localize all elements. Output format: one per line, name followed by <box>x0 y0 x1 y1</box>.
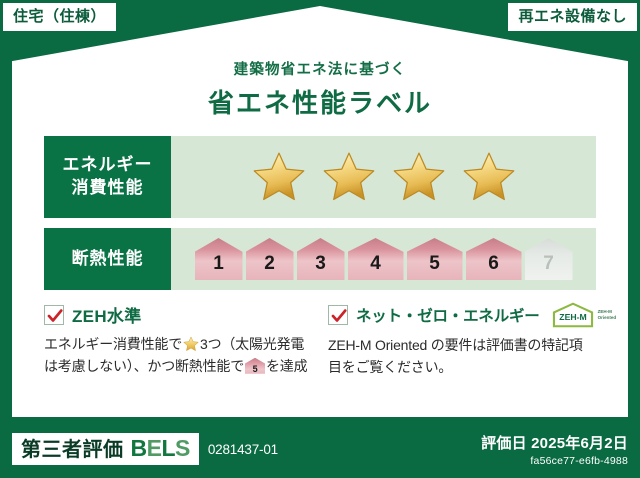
bels-english-text: BELS <box>131 437 190 460</box>
star-icon <box>461 150 517 204</box>
label-title: 省エネ性能ラベル <box>32 83 608 120</box>
energy-label-line1: エネルギー <box>63 154 153 177</box>
zeh-standard-header: ZEH水準 <box>44 302 312 327</box>
energy-performance-value <box>171 136 596 218</box>
insulation-performance-value: 1234567 <box>171 228 596 290</box>
energy-label-line2: 消費性能 <box>72 177 144 200</box>
star-icon <box>391 150 447 204</box>
energy-performance-row: エネルギー 消費性能 <box>44 136 596 218</box>
zeh-m-logo-text: ZEH-M <box>559 312 586 322</box>
badge-number: 3 <box>315 254 326 280</box>
insulation-badge-2: 2 <box>246 238 294 280</box>
zeh-desc-part3: を達成 <box>266 358 307 374</box>
badge-number: 1 <box>213 254 224 280</box>
zeh-checkbox[interactable] <box>44 305 64 325</box>
insulation-badge-1: 1 <box>195 238 243 280</box>
insulation-performance-row: 断熱性能 1234567 <box>44 228 596 290</box>
evaluation-date: 評価日 2025年6月2日 <box>481 432 628 453</box>
bels-logo: 第三者評価 BELS <box>12 433 199 465</box>
badge-number: 6 <box>488 254 499 280</box>
check-icon <box>331 308 347 324</box>
zeh-standard-column: ZEH水準 エネルギー消費性能で 3つ（太陽光発電は考慮しない）、かつ断熱性能で… <box>44 302 312 378</box>
energy-performance-label: エネルギー 消費性能 <box>44 136 171 218</box>
evaluation-hash: fa56ce77-e6fb-4988 <box>481 455 628 467</box>
badge-number: 5 <box>429 254 440 280</box>
nze-checkbox[interactable] <box>328 305 348 325</box>
bels-japanese-text: 第三者評価 <box>21 440 124 460</box>
inline-badge-number: 5 <box>245 365 265 374</box>
badge-number: 2 <box>264 254 275 280</box>
label-card-content: 建築物省エネ法に基づく 省エネ性能ラベル エネルギー 消費性能 断熱性能 123… <box>12 6 628 417</box>
insulation-performance-label: 断熱性能 <box>44 228 171 290</box>
bels-letter-s: S <box>175 435 190 461</box>
zeh-standard-title: ZEH水準 <box>72 302 142 327</box>
bels-letter-b: B <box>131 435 147 461</box>
insulation-label-text: 断熱性能 <box>72 248 144 271</box>
insulation-badge-7: 7 <box>525 238 573 280</box>
net-zero-energy-header: ネット・ゼロ・エネルギー ZEH-M ZEH-M Oriented <box>328 302 596 328</box>
insulation-badge-6: 6 <box>466 238 522 280</box>
zeh-m-house-icon: ZEH-M <box>550 302 596 328</box>
star-icon <box>251 150 307 204</box>
certification-columns: ZEH水準 エネルギー消費性能で 3つ（太陽光発電は考慮しない）、かつ断熱性能で… <box>44 302 596 378</box>
star-rating <box>251 150 517 204</box>
inline-star-icon <box>183 336 199 352</box>
net-zero-energy-title: ネット・ゼロ・エネルギー <box>356 304 540 326</box>
label-subtitle: 建築物省エネ法に基づく <box>32 58 608 79</box>
insulation-level-badges: 1234567 <box>195 238 573 280</box>
zeh-m-caption-line2: Oriented <box>598 315 617 321</box>
zeh-desc-part1: エネルギー消費性能で <box>44 336 182 352</box>
zeh-m-oriented-caption: ZEH-M Oriented <box>598 309 617 320</box>
inline-insulation-badge: 5 <box>245 358 265 374</box>
zeh-m-logo: ZEH-M ZEH-M Oriented <box>550 302 617 328</box>
bels-letter-l: L <box>161 435 175 461</box>
building-type-tag: 住宅（住棟） <box>3 3 116 31</box>
bels-certificate-number: 0281437-01 <box>208 442 278 457</box>
bels-letter-e: E <box>147 435 162 461</box>
insulation-badge-4: 4 <box>348 238 404 280</box>
badge-number: 4 <box>370 254 381 280</box>
evaluation-info: 評価日 2025年6月2日 fa56ce77-e6fb-4988 <box>481 432 628 467</box>
zeh-standard-description: エネルギー消費性能で 3つ（太陽光発電は考慮しない）、かつ断熱性能で 5 を達成 <box>44 334 312 377</box>
net-zero-energy-column: ネット・ゼロ・エネルギー ZEH-M ZEH-M Oriented ZEH-M … <box>328 302 596 378</box>
footer-bar: 第三者評価 BELS 0281437-01 評価日 2025年6月2日 fa56… <box>0 420 640 478</box>
insulation-badge-5: 5 <box>407 238 463 280</box>
star-icon <box>321 150 377 204</box>
check-icon <box>47 308 63 324</box>
badge-number: 7 <box>543 254 554 280</box>
renewable-equipment-tag: 再エネ設備なし <box>508 3 637 31</box>
insulation-badge-3: 3 <box>297 238 345 280</box>
net-zero-energy-description: ZEH-M Oriented の要件は評価書の特記項目をご覧ください。 <box>328 335 596 378</box>
